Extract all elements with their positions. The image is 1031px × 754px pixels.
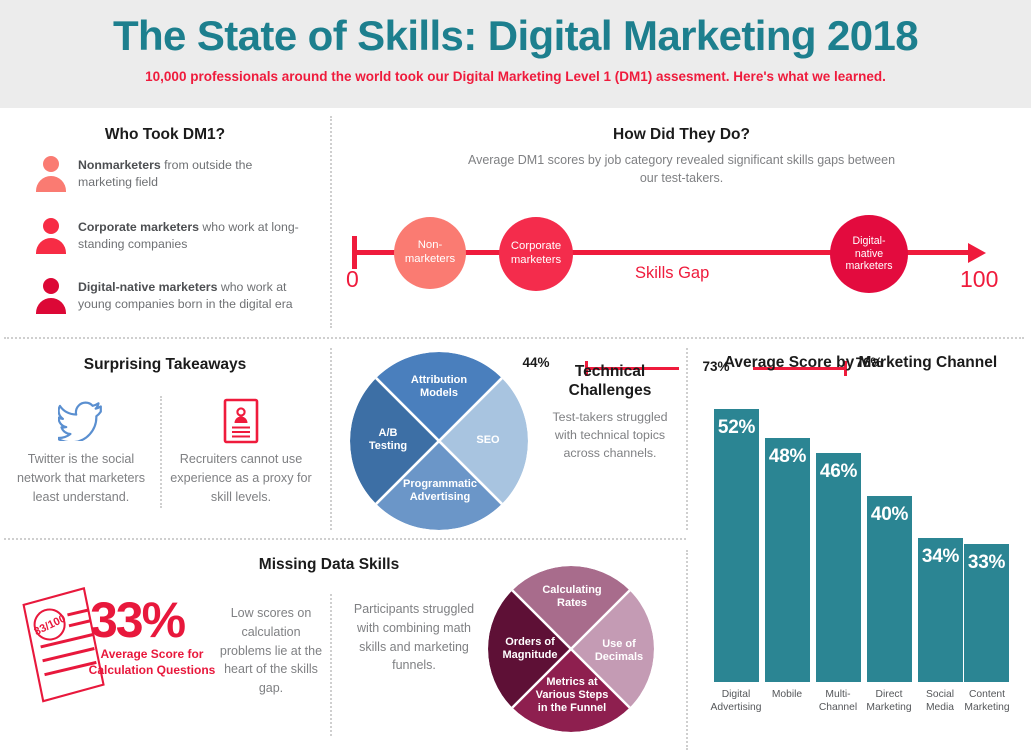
scale-bubble-digital-native: Digital- native marketers bbox=[830, 215, 908, 293]
section-who-took-dm1: Who Took DM1? Nonmarketers from outside … bbox=[0, 108, 330, 336]
section-how-did-they-do: How Did They Do? Average DM1 scores by j… bbox=[332, 108, 1031, 336]
divider-horizontal-upper bbox=[4, 337, 1024, 339]
who-took-item-nonmarketers: Nonmarketers from outside the marketing … bbox=[34, 156, 304, 198]
divider-horizontal-lower bbox=[4, 538, 686, 540]
axis-arrow-icon bbox=[968, 243, 986, 263]
who-took-item-bold: Corporate marketers bbox=[78, 220, 199, 234]
scale-bubble-line2: marketers bbox=[405, 253, 455, 265]
bar-value-label: 46% bbox=[820, 461, 857, 682]
person-icon bbox=[34, 278, 68, 320]
calculation-score-value: 33% bbox=[90, 591, 184, 649]
takeaway-text: Recruiters cannot use experience as a pr… bbox=[166, 450, 316, 507]
section-technical-challenges: Attribution Models SEO Programmatic Adve… bbox=[332, 340, 688, 538]
how-did-they-do-title: How Did They Do? bbox=[332, 126, 1031, 144]
bar-content-marketing[interactable]: 33% bbox=[964, 544, 1009, 682]
bar-x-label-content-marketing: Content Marketing bbox=[942, 688, 1031, 714]
takeaways-title: Surprising Takeaways bbox=[0, 356, 330, 374]
bar-multi-channel[interactable]: 46% bbox=[816, 453, 861, 682]
scale-bubble-line1: Non- bbox=[418, 239, 443, 251]
skills-gap-label: Skills Gap bbox=[635, 264, 709, 283]
axis-max-label: 100 bbox=[960, 266, 998, 293]
technical-challenges-description: Test-takers struggled with technical top… bbox=[544, 409, 676, 463]
who-took-item-label: Digital-native marketers who work at you… bbox=[78, 278, 296, 314]
scale-bubble-text: Digital- native marketers bbox=[845, 235, 892, 273]
bar-value-label: 40% bbox=[871, 504, 908, 682]
section-missing-data-skills: Missing Data Skills 33/100 33% bbox=[0, 542, 688, 754]
bar-value-label: 48% bbox=[769, 446, 806, 682]
who-took-item-label: Corporate marketers who work at long-sta… bbox=[78, 218, 304, 254]
page-title: The State of Skills: Digital Marketing 2… bbox=[0, 12, 1031, 60]
bar-value-label: 52% bbox=[718, 417, 755, 682]
section-average-score-by-channel: Average Score by Marketing Channel 52% 4… bbox=[690, 340, 1031, 754]
who-took-item-bold: Nonmarketers bbox=[78, 158, 161, 172]
scale-bubble-nonmarketers: Non- marketers bbox=[394, 217, 466, 289]
infographic-header: The State of Skills: Digital Marketing 2… bbox=[0, 0, 1031, 108]
bar-direct-marketing[interactable]: 40% bbox=[867, 496, 912, 682]
takeaway-item-twitter: Twitter is the social network that marke… bbox=[6, 392, 156, 507]
twitter-bird-icon bbox=[6, 392, 156, 450]
person-icon bbox=[34, 218, 68, 260]
scale-bubble-line1: Digital- bbox=[853, 235, 886, 247]
who-took-item-bold: Digital-native marketers bbox=[78, 280, 217, 294]
takeaway-text: Twitter is the social network that marke… bbox=[6, 450, 156, 507]
section-surprising-takeaways: Surprising Takeaways Twitter is the soci… bbox=[0, 340, 330, 538]
calculation-score-caption: Average Score for Calculation Questions bbox=[88, 646, 216, 678]
bar-social-media[interactable]: 34% bbox=[918, 538, 963, 682]
score-scale-chart: 0 100 Skills Gap Non- marketers Corporat… bbox=[332, 180, 1031, 310]
infographic-body: Who Took DM1? Nonmarketers from outside … bbox=[0, 108, 1031, 754]
scale-bubble-line1: Corporate bbox=[511, 240, 561, 252]
who-took-item-corporate: Corporate marketers who work at long-sta… bbox=[34, 218, 304, 260]
missing-data-text-left: Low scores on calculation problems lie a… bbox=[218, 604, 324, 698]
resume-document-icon bbox=[166, 392, 316, 450]
scale-bubble-line2: marketers bbox=[511, 254, 561, 266]
page-subtitle: 10,000 professionals around the world to… bbox=[0, 69, 1031, 84]
takeaway-item-recruiters: Recruiters cannot use experience as a pr… bbox=[166, 392, 316, 507]
scale-bubble-line3: marketers bbox=[845, 260, 892, 272]
bar-value-label: 34% bbox=[922, 546, 959, 682]
scale-bubble-text: Non- marketers bbox=[405, 239, 455, 266]
technical-challenges-heading: Technical Challenges bbox=[544, 362, 676, 401]
bar-mobile[interactable]: 48% bbox=[765, 438, 810, 682]
bar-digital-advertising[interactable]: 52% bbox=[714, 409, 759, 682]
technical-challenges-text-block: Technical Challenges Test-takers struggl… bbox=[544, 362, 676, 463]
scale-bubble-line2: native bbox=[855, 248, 883, 260]
who-took-item-label: Nonmarketers from outside the marketing … bbox=[78, 156, 300, 192]
bar-chart-plot-area: 52% 48% 46% 40% 34% 33% bbox=[714, 392, 1009, 682]
technical-challenges-pie-chart: Attribution Models SEO Programmatic Adve… bbox=[350, 352, 528, 530]
who-took-item-digital-native: Digital-native marketers who work at you… bbox=[34, 278, 304, 320]
missing-data-skills-pie-chart: Calculating Rates Use of Decimals Metric… bbox=[488, 566, 654, 732]
calculation-score-stat: 33/100 33% Average Score for Calculation… bbox=[14, 586, 222, 716]
axis-min-label: 0 bbox=[346, 266, 359, 293]
bar-value-label: 33% bbox=[968, 552, 1005, 682]
who-took-title: Who Took DM1? bbox=[0, 126, 330, 144]
scale-bubble-text: Corporate marketers bbox=[511, 240, 561, 267]
scale-bubble-corporate: Corporate marketers bbox=[499, 217, 573, 291]
person-icon bbox=[34, 156, 68, 198]
bar-chart-title: Average Score by Marketing Channel bbox=[690, 354, 1031, 372]
missing-data-text-right: Participants struggled with combining ma… bbox=[352, 600, 476, 675]
